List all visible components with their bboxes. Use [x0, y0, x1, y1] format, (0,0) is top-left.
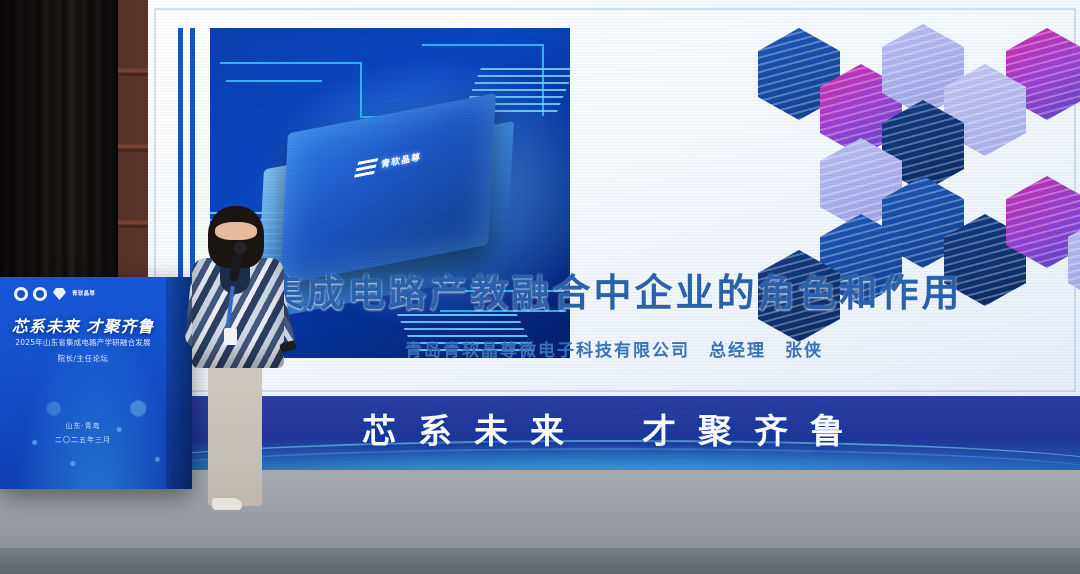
sponsor-logo-icon — [14, 287, 28, 301]
podium-date: 二〇二五年三月 — [0, 435, 166, 445]
podium-sponsor-logos: 青软晶尊 — [14, 287, 95, 301]
hexagon-cluster — [548, 18, 1018, 378]
sponsor-logo-icon — [33, 287, 47, 301]
podium-headline: 芯系未来 才聚齐鲁 — [0, 313, 166, 337]
podium-event-forum: 院长/主任论坛 — [0, 353, 166, 364]
presenter-badge — [224, 328, 237, 345]
podium-logo-wordmark: 青软晶尊 — [72, 291, 95, 297]
diamond-logo-icon — [52, 287, 67, 301]
presenter — [186, 200, 296, 510]
presenter-trousers — [208, 348, 262, 506]
stage-floor-front-edge — [0, 548, 1080, 574]
presenter-shoe — [212, 498, 242, 510]
speaker-podium: 青软晶尊 芯系未来 才聚齐鲁 2025年山东省集成电路产学研融合发展 院长/主任… — [0, 277, 192, 489]
podium-event-name: 2025年山东省集成电路产学研融合发展 — [0, 337, 166, 348]
podium-network-graphic — [0, 277, 192, 489]
podium-location: 山东·青岛 — [0, 421, 166, 431]
conference-stage-photo: 青软晶尊 集成电路产教融合中企业的角色和作用 青岛青软晶尊微电子 — [0, 0, 1080, 574]
